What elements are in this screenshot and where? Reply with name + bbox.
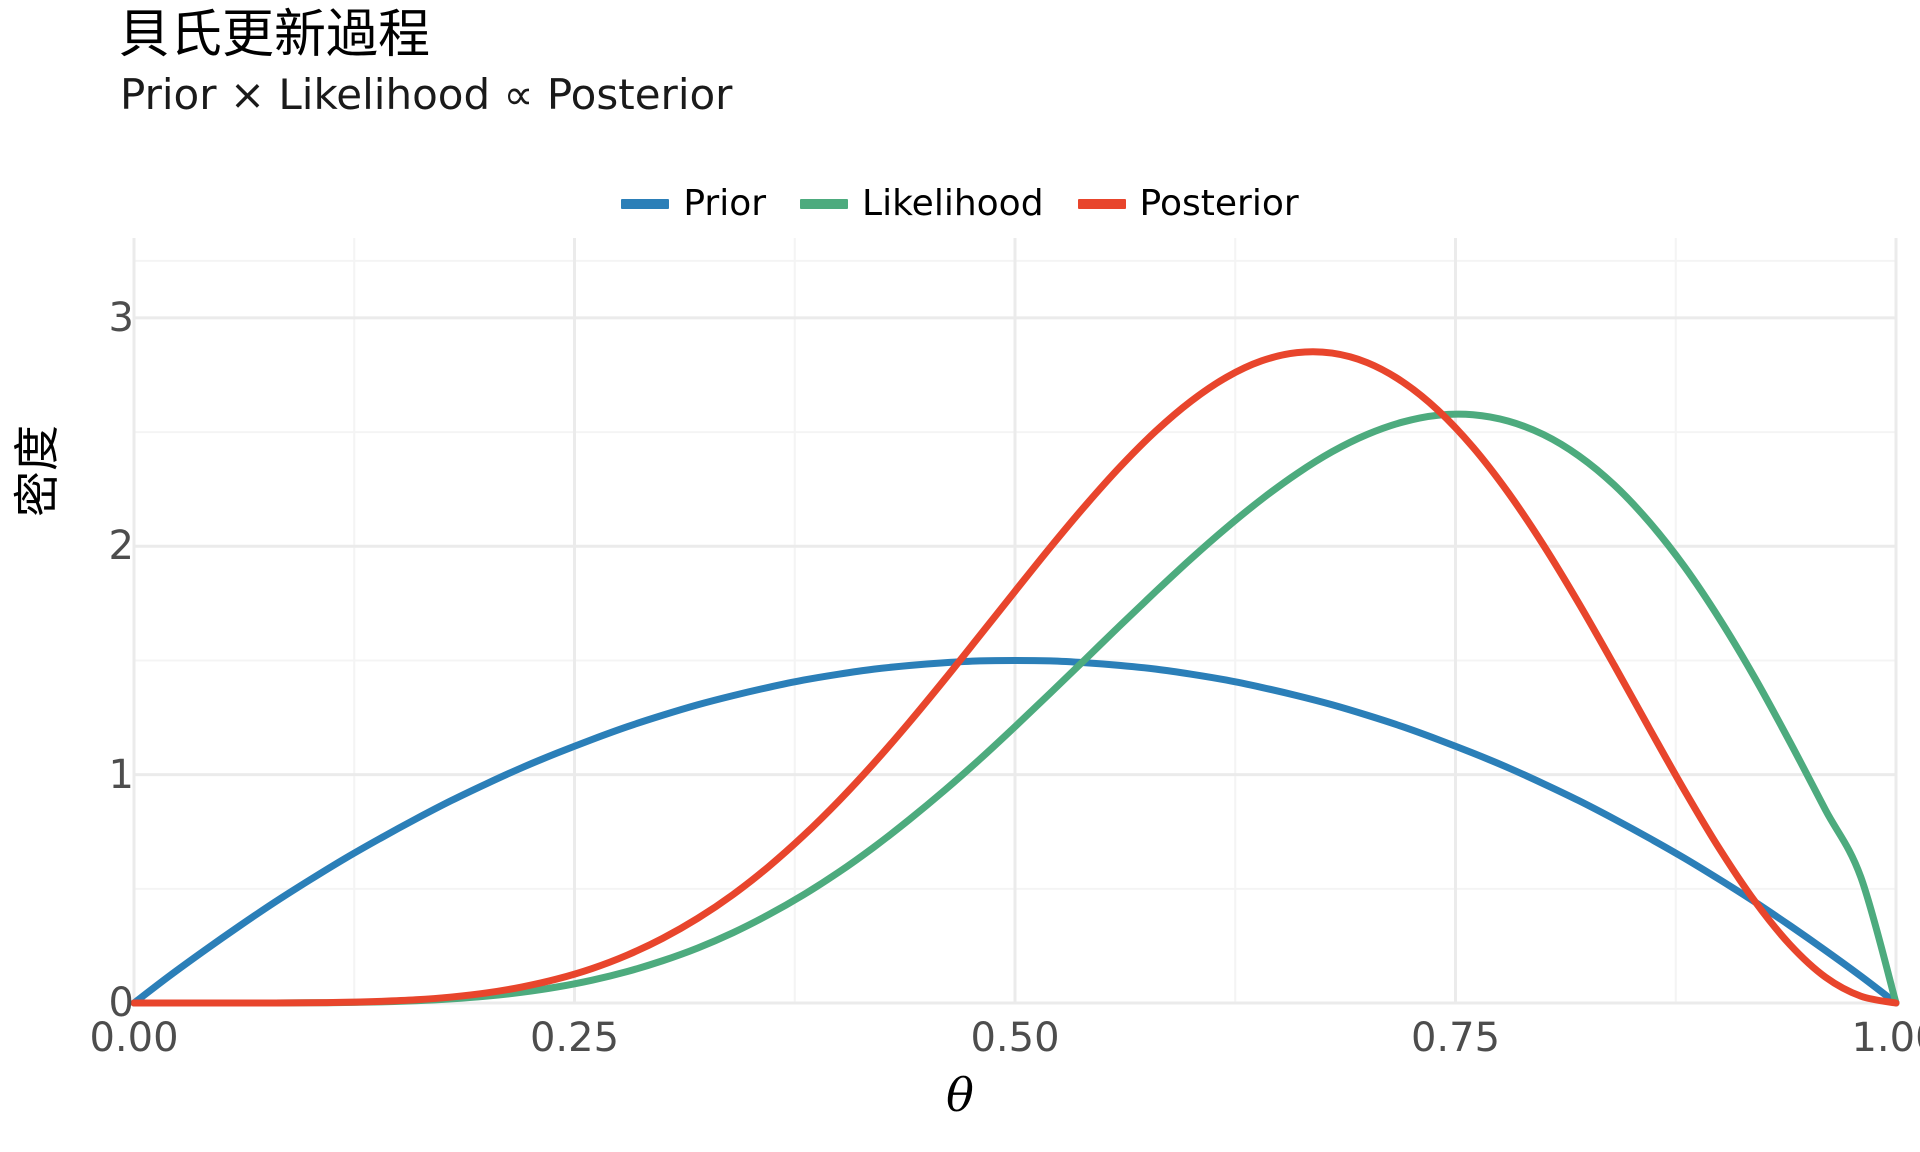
x-tick-label: 0.75 <box>1411 1018 1500 1058</box>
x-tick-label: 0.25 <box>530 1018 619 1058</box>
chart-container: 貝氏更新過程 Prior × Likelihood ∝ Posterior Pr… <box>0 0 1920 1152</box>
y-tick-label: 3 <box>109 298 134 338</box>
plot-panel <box>0 0 1920 1152</box>
y-axis-label: 密度 <box>1 391 67 551</box>
x-tick-label: 0.00 <box>89 1018 178 1058</box>
plot-area <box>0 0 1920 1152</box>
y-tick-label: 1 <box>109 755 134 795</box>
x-axis-label: θ <box>0 1068 1920 1122</box>
x-tick-label: 0.50 <box>970 1018 1059 1058</box>
x-tick-label: 1.00 <box>1851 1018 1920 1058</box>
y-tick-label: 2 <box>109 526 134 566</box>
